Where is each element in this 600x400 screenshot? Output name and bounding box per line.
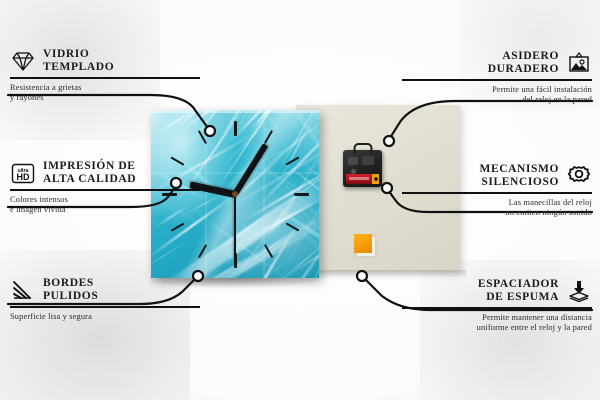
feature-header: BORDES PULIDOS xyxy=(10,277,200,303)
feature-divider xyxy=(402,307,592,309)
feature-title: ESPACIADOR DE ESPUMA xyxy=(478,278,559,304)
feature-espaciador-de-espuma[interactable]: ESPACIADOR DE ESPUMA Permite mantener un… xyxy=(402,278,592,333)
feature-impresion-alta-calidad[interactable]: ultra HD IMPRESIÓN DE ALTA CALIDAD Color… xyxy=(10,160,200,215)
feature-title: ASIDERO DURADERO xyxy=(488,50,559,76)
feature-title: BORDES PULIDOS xyxy=(43,277,98,303)
diamond-icon xyxy=(10,48,36,74)
feature-title: VIDRIO TEMPLADO xyxy=(43,48,114,74)
feature-header: VIDRIO TEMPLADO xyxy=(10,48,200,74)
feature-divider xyxy=(402,192,592,194)
infographic-canvas: VIDRIO TEMPLADO Resistencia a grietas y … xyxy=(0,0,600,400)
feature-divider xyxy=(10,189,200,191)
framed-picture-hanger-icon xyxy=(566,50,592,76)
gear-icon xyxy=(566,163,592,189)
feature-mecanismo-silencioso[interactable]: MECANISMO SILENCIOSO Las manecillas del … xyxy=(402,163,592,218)
feature-header: ultra HD IMPRESIÓN DE ALTA CALIDAD xyxy=(10,160,200,186)
ultra-hd-icon: ultra HD xyxy=(10,160,36,186)
feature-header: MECANISMO SILENCIOSO xyxy=(402,163,592,189)
feature-header: ESPACIADOR DE ESPUMA xyxy=(402,278,592,304)
feature-title: IMPRESIÓN DE ALTA CALIDAD xyxy=(43,160,136,186)
feature-divider xyxy=(402,79,592,81)
feature-asidero-duradero[interactable]: ASIDERO DURADERO Permite una fácil insta… xyxy=(402,50,592,105)
feature-divider xyxy=(10,306,200,308)
arrow-down-pad-icon xyxy=(566,278,592,304)
feature-divider xyxy=(10,77,200,79)
polished-edges-icon xyxy=(10,277,36,303)
feature-bordes-pulidos[interactable]: BORDES PULIDOS Superficie lisa y segura xyxy=(10,277,200,322)
feature-title: MECANISMO SILENCIOSO xyxy=(479,163,559,189)
ultra-hd-large-text: HD xyxy=(17,172,30,182)
feature-vidrio-templado[interactable]: VIDRIO TEMPLADO Resistencia a grietas y … xyxy=(10,48,200,103)
feature-header: ASIDERO DURADERO xyxy=(402,50,592,76)
